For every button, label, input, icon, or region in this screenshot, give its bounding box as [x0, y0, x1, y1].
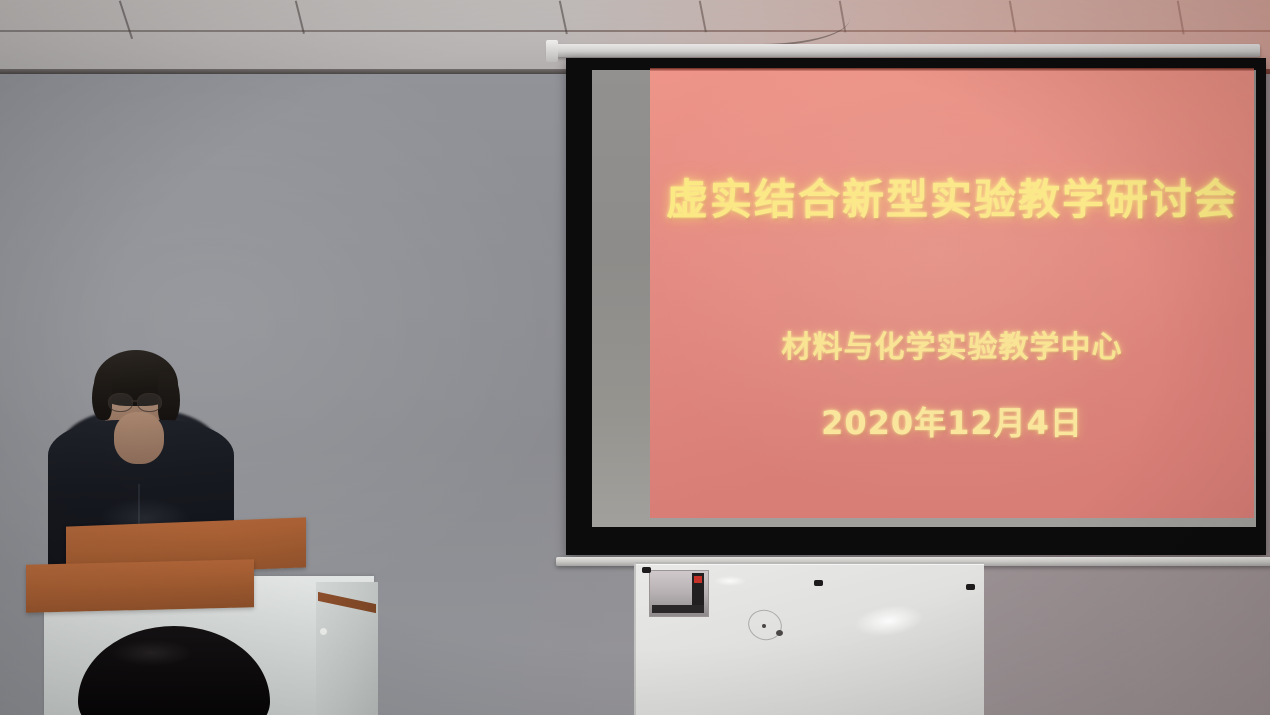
slide-top-edge	[650, 68, 1254, 71]
podium-knob[interactable]	[320, 628, 327, 635]
whiteboard-mark	[776, 630, 783, 636]
whiteboard-product-label	[649, 570, 709, 617]
lecture-presentation-photo: 虚实结合新型实验教学研讨会 材料与化学实验教学中心 2020年12月4日	[0, 0, 1270, 715]
whiteboard	[634, 562, 984, 715]
slide-title: 虚实结合新型实验教学研讨会	[650, 166, 1254, 227]
whiteboard-glare	[852, 601, 925, 640]
glasses-lens-right	[137, 393, 162, 412]
ceiling-grid-line	[295, 1, 305, 34]
glasses-bridge	[131, 400, 138, 402]
presenter-neck	[114, 412, 164, 464]
whiteboard-magnet[interactable]	[966, 584, 975, 590]
podium-wood-front-lip	[26, 559, 254, 613]
slide-subtitle: 材料与化学实验教学中心	[650, 322, 1254, 366]
screen-roller-housing	[548, 44, 1260, 57]
glasses-lens-left	[108, 393, 133, 412]
slide-date: 2020年12月4日	[650, 398, 1254, 444]
label-bottom-strip	[652, 605, 704, 613]
whiteboard-magnet[interactable]	[642, 567, 651, 573]
whiteboard-mark	[762, 624, 766, 628]
ceiling-grid-line	[119, 1, 133, 40]
screen-roller-end-cap	[546, 40, 558, 62]
projected-slide: 虚实结合新型实验教学研讨会 材料与化学实验教学中心 2020年12月4日	[650, 68, 1254, 518]
audience-hair-highlight	[112, 640, 192, 666]
slide-projector-glow	[650, 68, 1254, 518]
whiteboard-magnet[interactable]	[814, 580, 823, 586]
label-red-mark	[694, 576, 702, 583]
whiteboard-glare	[714, 576, 746, 586]
